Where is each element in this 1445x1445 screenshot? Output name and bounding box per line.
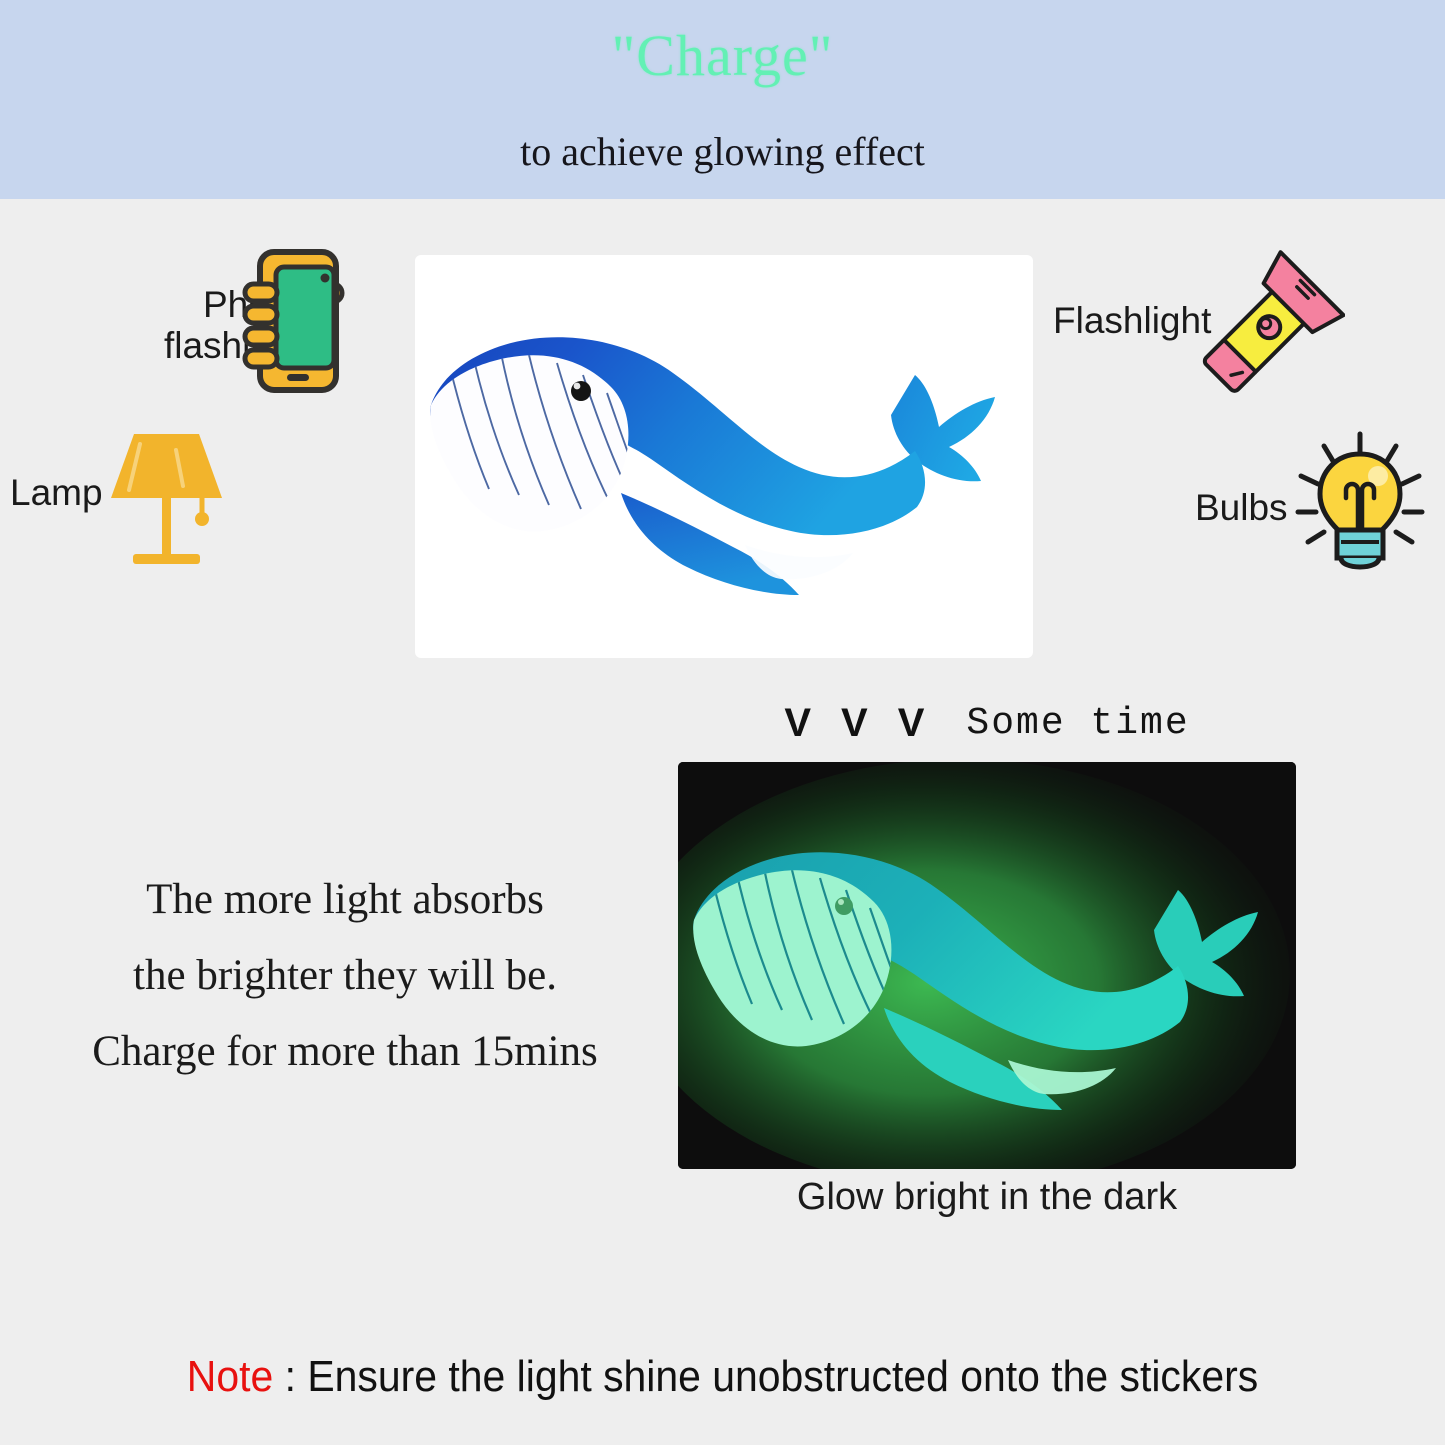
note-label: Note xyxy=(187,1352,273,1401)
whale-sticker-daylight-panel xyxy=(415,255,1033,658)
transition-row: V V V Some time xyxy=(678,697,1296,749)
transition-label: Some time xyxy=(966,702,1189,745)
copy-line-3: Charge for more than 15mins xyxy=(55,1014,635,1090)
phone-flashlight-icon xyxy=(240,248,355,394)
copy-line-2: the brighter they will be. xyxy=(55,938,635,1014)
down-arrow-icon-3: V xyxy=(898,701,925,746)
bulb-icon xyxy=(1290,428,1430,580)
description-copy: The more light absorbs the brighter they… xyxy=(55,862,635,1090)
page-title: "Charge" xyxy=(0,22,1445,89)
page-subtitle: to achieve glowing effect xyxy=(0,128,1445,175)
lamp-icon xyxy=(104,428,229,568)
note-text: Ensure the light shine unobstructed onto… xyxy=(307,1352,1258,1401)
whale-sticker-glowing-panel xyxy=(678,762,1296,1169)
down-arrow-icon-1: V xyxy=(784,701,811,746)
copy-line-1: The more light absorbs xyxy=(55,862,635,938)
down-arrow-icon-2: V xyxy=(841,701,868,746)
note-separator: : xyxy=(273,1352,307,1401)
note-row: Note : Ensure the light shine unobstruct… xyxy=(51,1352,1395,1402)
flashlight-icon xyxy=(1185,250,1345,410)
down-arrow-icons: V V V xyxy=(784,701,924,746)
glow-caption: Glow bright in the dark xyxy=(678,1176,1296,1219)
